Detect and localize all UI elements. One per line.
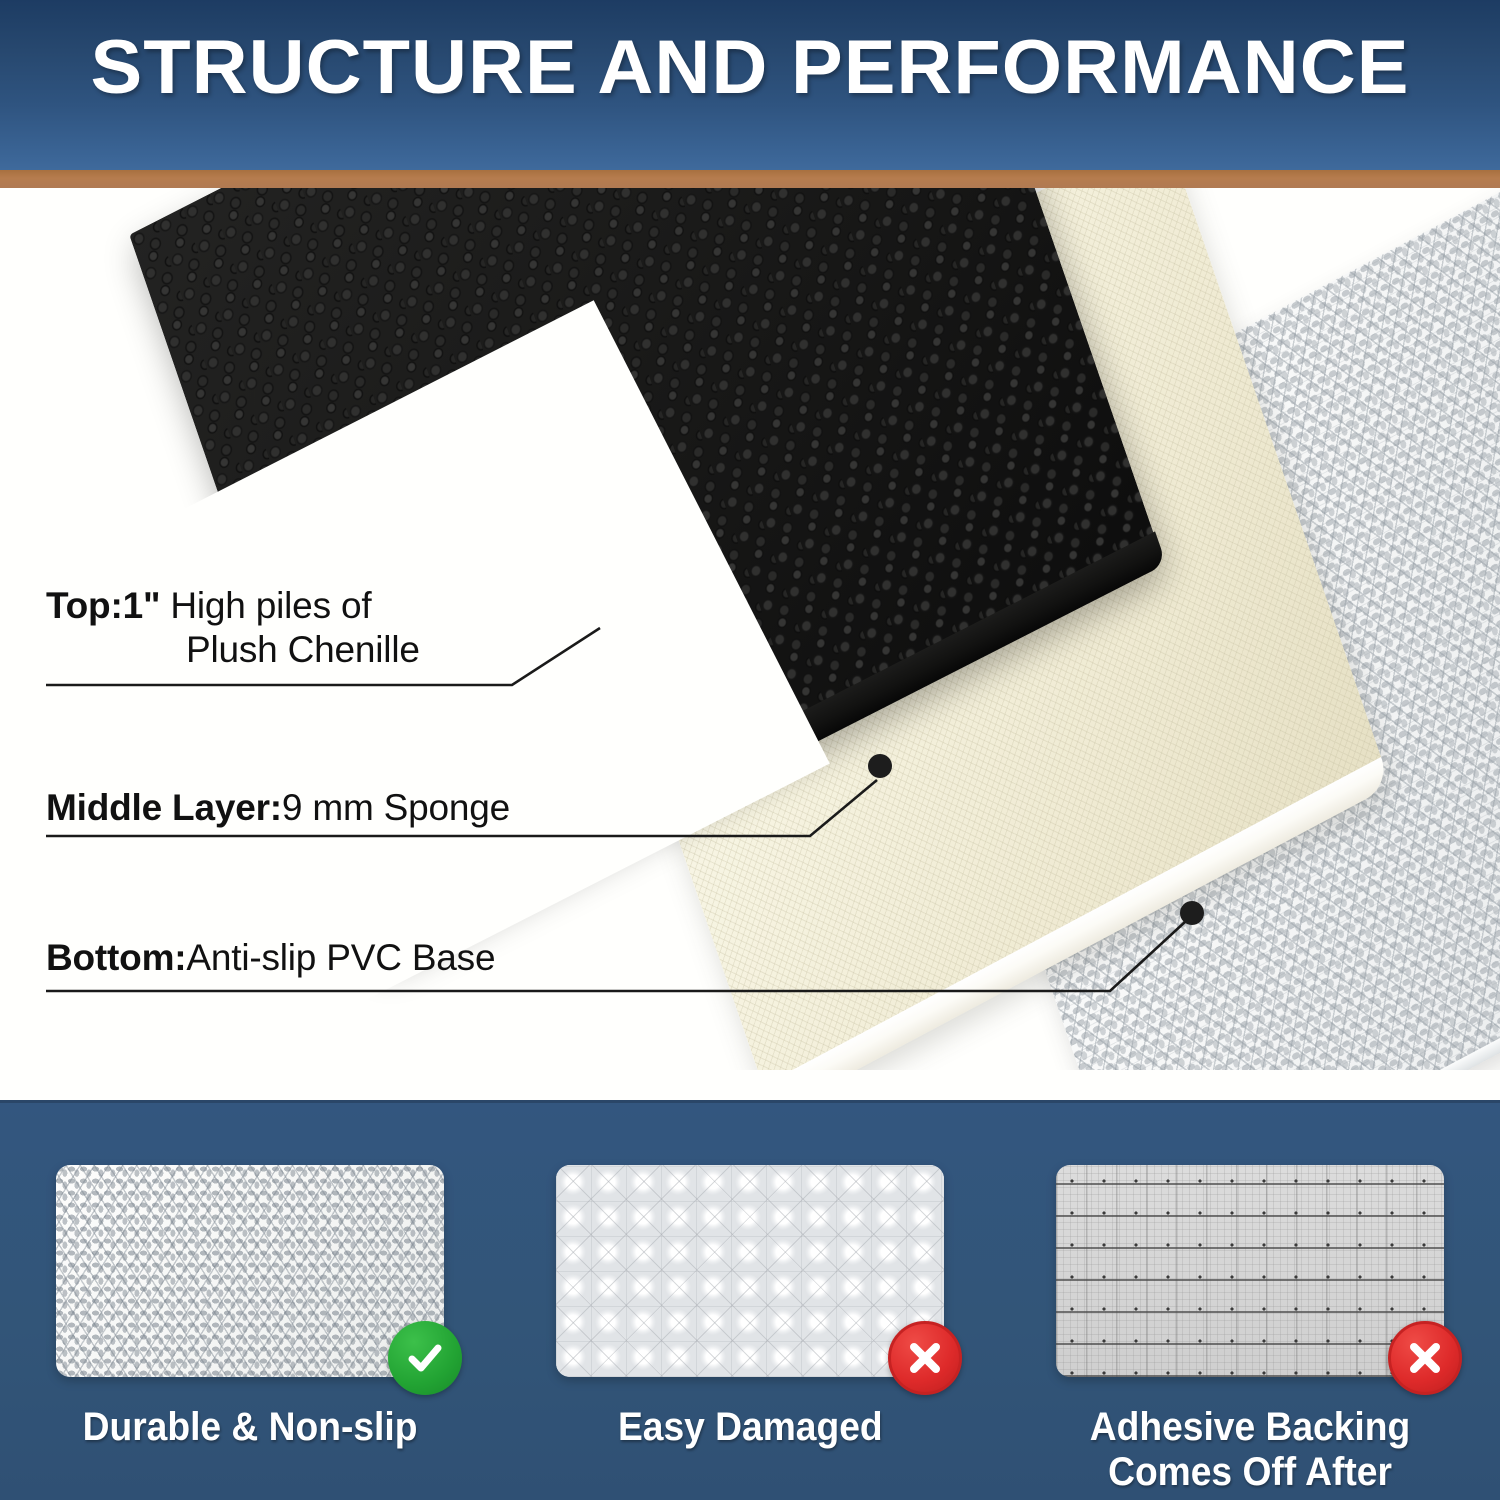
comparison-panel-adhesive-backing: Adhesive Backing Comes Off After Washing bbox=[1040, 1165, 1460, 1500]
texture-embossed-diamond-foam bbox=[556, 1165, 944, 1377]
comparison-panels: Durable & Non-slip Easy Damaged bbox=[0, 1103, 1500, 1500]
check-icon bbox=[388, 1321, 462, 1395]
texture-gray-grid-weave bbox=[1056, 1165, 1444, 1377]
swatch-inner bbox=[1056, 1165, 1444, 1377]
cross-icon bbox=[1388, 1321, 1462, 1395]
comparison-panel-easy-damaged: Easy Damaged bbox=[540, 1165, 960, 1450]
swatch-durable-non-slip bbox=[56, 1165, 444, 1377]
cross-glyph bbox=[904, 1337, 946, 1379]
texture-honeycomb-pvc-mesh bbox=[56, 1165, 444, 1377]
page-title: STRUCTURE AND PERFORMANCE bbox=[0, 30, 1500, 106]
photo-bottom-mask bbox=[0, 1070, 1500, 1100]
cross-icon bbox=[888, 1321, 962, 1395]
panel-caption-durable-non-slip: Durable & Non-slip bbox=[83, 1405, 418, 1450]
comparison-panel-durable-non-slip: Durable & Non-slip bbox=[40, 1165, 460, 1450]
panel-caption-easy-damaged: Easy Damaged bbox=[618, 1405, 883, 1450]
check-glyph bbox=[402, 1335, 448, 1381]
comparison-band: Durable & Non-slip Easy Damaged bbox=[0, 1100, 1500, 1500]
swatch-inner bbox=[56, 1165, 444, 1377]
product-layers-photo bbox=[0, 188, 1500, 1100]
panel-caption-adhesive-backing: Adhesive Backing Comes Off After Washing bbox=[1055, 1405, 1446, 1500]
infographic-page: STRUCTURE AND PERFORMANCE Top:1" High pi… bbox=[0, 0, 1500, 1500]
swatch-easy-damaged bbox=[556, 1165, 944, 1377]
cross-glyph bbox=[1404, 1337, 1446, 1379]
swatch-adhesive-backing bbox=[1056, 1165, 1444, 1377]
header-divider-rule bbox=[0, 170, 1500, 188]
swatch-inner bbox=[556, 1165, 944, 1377]
